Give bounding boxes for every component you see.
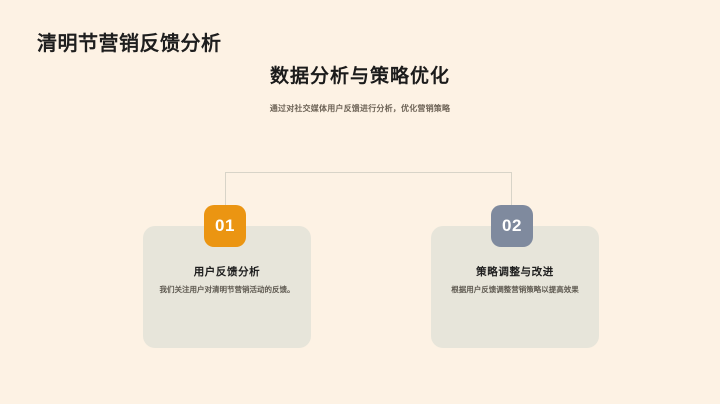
connector-bracket [225,172,512,218]
card-title: 用户反馈分析 [143,264,311,279]
section-heading: 数据分析与策略优化 [0,61,720,88]
slide-title: 清明节营销反馈分析 [37,27,222,56]
card-description: 我们关注用户对清明节营销活动的反馈。 [157,284,297,296]
step-badge-01[interactable]: 01 [204,205,246,247]
card-title: 策略调整与改进 [431,264,599,279]
card-description: 根据用户反馈调整营销策略以提高效果 [445,284,585,296]
slide-canvas: 清明节营销反馈分析 数据分析与策略优化 通过对社交媒体用户反馈进行分析，优化营销… [0,0,720,404]
step-badge-02[interactable]: 02 [491,205,533,247]
section-subheading: 通过对社交媒体用户反馈进行分析，优化营销策略 [0,103,720,114]
